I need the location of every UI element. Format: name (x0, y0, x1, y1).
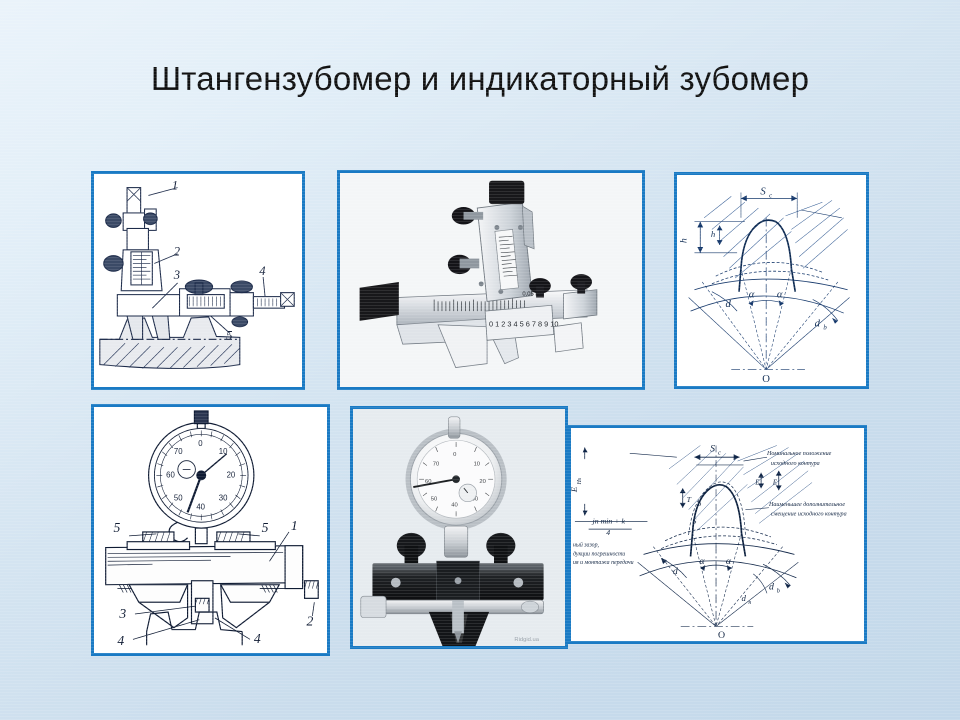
annotation-left-3: ия и монтажа передачи (573, 559, 634, 566)
svg-text:50: 50 (431, 497, 438, 503)
panel-5-image: 01020 304050 6070 (353, 409, 565, 646)
svg-text:10: 10 (474, 462, 481, 468)
page-title: Штангензубомер и индикаторный зубомер (0, 60, 960, 98)
svg-text:30: 30 (219, 494, 228, 503)
caliper-photo-svg: 0 1 2 3 4 5 6 7 8 9 10 (340, 173, 642, 387)
label-dn: d (742, 593, 747, 603)
panel-tooth-thickness-diagram[interactable]: S c h h α α d d b O (674, 172, 869, 389)
callout-3: 3 (118, 606, 126, 621)
panel-1-image: 1 2 3 4 5 (94, 174, 302, 387)
label-db-sub: b (777, 587, 780, 594)
formula-denominator: 4 (606, 528, 610, 537)
callout-5: 5 (226, 328, 232, 342)
callout-4-right: 4 (254, 631, 261, 646)
label-Th: T (687, 495, 692, 504)
callout-4-left: 4 (117, 633, 124, 648)
svg-text:20: 20 (479, 479, 486, 485)
svg-text:40: 40 (451, 503, 458, 509)
label-Sc: S (760, 185, 766, 197)
tooth-geometry-svg: S c h h α α d d b O (677, 175, 866, 386)
label-hs: h (711, 229, 715, 239)
vernier-scale-numbers: 0 1 2 3 4 5 6 7 8 9 10 (489, 320, 558, 329)
label-bt: b (697, 499, 701, 508)
indicator-gauge-photo-svg: 01020 304050 6070 (353, 409, 565, 646)
label-dn-sub: н (748, 600, 751, 606)
label-E2: E (772, 479, 778, 486)
label-Sc-sub: c (718, 449, 721, 456)
svg-text:50: 50 (174, 494, 183, 503)
panel-indicator-gauge-drawing[interactable]: 01020 304050 6070 (91, 404, 330, 656)
panel-6-image: S c E Hs T b S E E α α d d b d н O (571, 428, 864, 641)
label-Sc-sub: c (769, 192, 772, 199)
svg-text:70: 70 (433, 462, 440, 468)
annotation-left-2: дукции погрешности (573, 550, 625, 557)
slide-canvas: Штангензубомер и индикаторный зубомер (0, 0, 960, 720)
panel-indicator-gauge-photo[interactable]: 01020 304050 6070 (350, 406, 568, 649)
label-db: d (815, 318, 821, 330)
contour-diagram-svg: S c E Hs T b S E E α α d d b d н O (571, 428, 864, 641)
callout-3: 3 (173, 268, 180, 282)
label-d: d (725, 298, 731, 310)
callout-2: 2 (174, 245, 181, 259)
annotation-nominal-2: исходного контура (771, 460, 820, 467)
label-d: d (673, 566, 678, 577)
panel-4-image: 01020 304050 6070 (94, 407, 327, 653)
label-h: h (679, 238, 690, 243)
label-alpha-left: α (699, 556, 705, 567)
annotation-left-1: ный зазор, (573, 542, 600, 549)
panel-gear-tooth-caliper-photo[interactable]: 0 1 2 3 4 5 6 7 8 9 10 (337, 170, 645, 390)
panel-contour-displacement-diagram[interactable]: S c E Hs T b S E E α α d d b d н O (568, 425, 867, 644)
label-db: d (769, 581, 774, 592)
label-alpha-right: α (726, 556, 732, 567)
annotation-least-2: смещение исходного контура (771, 511, 847, 518)
callout-4: 4 (259, 264, 266, 278)
label-E1: E (754, 479, 760, 486)
label-Sc: S (710, 443, 715, 454)
svg-text:70: 70 (174, 447, 183, 456)
svg-text:0: 0 (198, 439, 203, 448)
panel-3-image: S c h h α α d d b O (677, 175, 866, 386)
callout-5-left: 5 (113, 520, 120, 535)
panel-2-image: 0 1 2 3 4 5 6 7 8 9 10 (340, 173, 642, 387)
precision-marking: 0,05 мм (522, 292, 543, 298)
label-S: S (693, 516, 697, 525)
annotation-least-1: Наименьшее дополнительное (768, 501, 845, 508)
label-alpha-left: α (749, 289, 755, 301)
formula-numerator: jn min + k (592, 516, 626, 525)
callout-1: 1 (291, 518, 298, 533)
panel-gear-tooth-caliper-drawing[interactable]: 1 2 3 4 5 (91, 171, 305, 390)
callout-1: 1 (172, 179, 178, 193)
svg-text:20: 20 (227, 470, 236, 479)
label-EHs-sub: Hs (577, 477, 583, 485)
indicator-gauge-schematic-svg: 01020 304050 6070 (94, 407, 327, 653)
label-O: O (762, 373, 770, 385)
svg-text:10: 10 (219, 447, 228, 456)
photo-watermark: Ridgid.ua (514, 637, 539, 643)
annotation-nominal-1: Номинальное положение (766, 451, 832, 457)
callout-2: 2 (307, 614, 314, 629)
caliper-schematic-svg: 1 2 3 4 5 (94, 174, 302, 387)
label-alpha-right: α (777, 289, 783, 301)
label-EHs: E (571, 486, 579, 493)
label-O: O (718, 630, 725, 641)
callout-5-right: 5 (262, 520, 269, 535)
svg-text:60: 60 (166, 470, 175, 479)
svg-text:40: 40 (196, 502, 205, 511)
